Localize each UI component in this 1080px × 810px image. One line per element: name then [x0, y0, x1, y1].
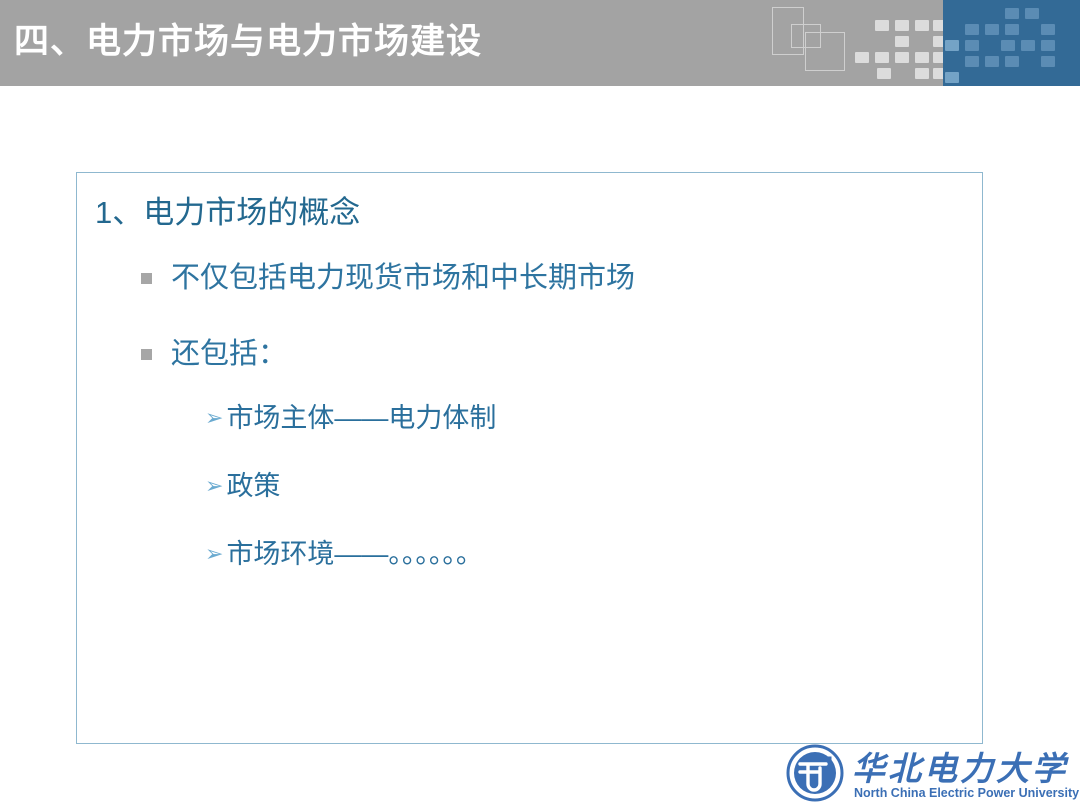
grid-square [1021, 40, 1035, 51]
decorative-grid-blue [943, 0, 1080, 86]
grid-square [1005, 56, 1019, 67]
grid-square [915, 68, 929, 79]
grid-square [965, 40, 979, 51]
list-item-label: 不仅包括电力现货市场和中长期市场 [171, 259, 635, 297]
slide-title: 四、电力市场与电力市场建设 [14, 14, 482, 70]
grid-square [915, 20, 929, 31]
list-item-label: 还包括： [171, 335, 287, 373]
square-bullet-icon [141, 273, 152, 284]
university-name-en: North China Electric Power University [854, 786, 1079, 800]
slide: 四、电力市场与电力市场建设 1、电力市场的概念 不仅包括电力现货市场和中长期市场… [0, 0, 1080, 810]
university-name-cn: 华北电力大学 [852, 742, 1068, 790]
grid-square [945, 40, 959, 51]
grid-square [1041, 40, 1055, 51]
grid-square [1001, 40, 1015, 51]
grid-square [875, 20, 889, 31]
list-item-label: 市场环境——。。。。。。 [226, 537, 483, 571]
grid-square [1005, 24, 1019, 35]
grid-square [945, 72, 959, 83]
grid-square [1025, 8, 1039, 19]
list-item-label: 政策 [226, 469, 280, 503]
list-item-label: 市场主体——电力体制 [226, 401, 496, 435]
grid-square [1041, 56, 1055, 67]
list-item: ➢ 市场主体——电力体制 [205, 401, 965, 435]
grid-square [895, 36, 909, 47]
grid-square [855, 52, 869, 63]
square-bullet-icon [141, 349, 152, 360]
university-emblem-icon [786, 744, 844, 802]
grid-square [985, 56, 999, 67]
grid-square [1005, 8, 1019, 19]
list-item: 不仅包括电力现货市场和中长期市场 [141, 259, 941, 297]
outline-square-3 [805, 32, 845, 71]
level3-bullet-list: ➢ 市场主体——电力体制 ➢ 政策 ➢ 市场环境——。。。。。。 [205, 401, 965, 605]
grid-square [1041, 24, 1055, 35]
list-item: ➢ 政策 [205, 469, 965, 503]
list-item: 还包括： [141, 335, 941, 373]
arrow-bullet-icon: ➢ [205, 401, 223, 435]
arrow-bullet-icon: ➢ [205, 469, 223, 503]
content-heading: 1、电力市场的概念 [95, 187, 360, 232]
grid-square [965, 56, 979, 67]
level2-bullet-list: 不仅包括电力现货市场和中长期市场 还包括： [141, 259, 941, 411]
grid-square [895, 20, 909, 31]
grid-square [915, 52, 929, 63]
grid-square [875, 52, 889, 63]
list-item: ➢ 市场环境——。。。。。。 [205, 537, 965, 571]
grid-square [965, 24, 979, 35]
grid-square [877, 68, 891, 79]
university-logo: 华北电力大学 North China Electric Power Univer… [786, 742, 1076, 808]
grid-square [895, 52, 909, 63]
content-box: 1、电力市场的概念 不仅包括电力现货市场和中长期市场 还包括： ➢ 市场主体——… [76, 172, 983, 744]
grid-square [985, 24, 999, 35]
arrow-bullet-icon: ➢ [205, 537, 223, 571]
decorative-grid-gray [855, 0, 945, 86]
